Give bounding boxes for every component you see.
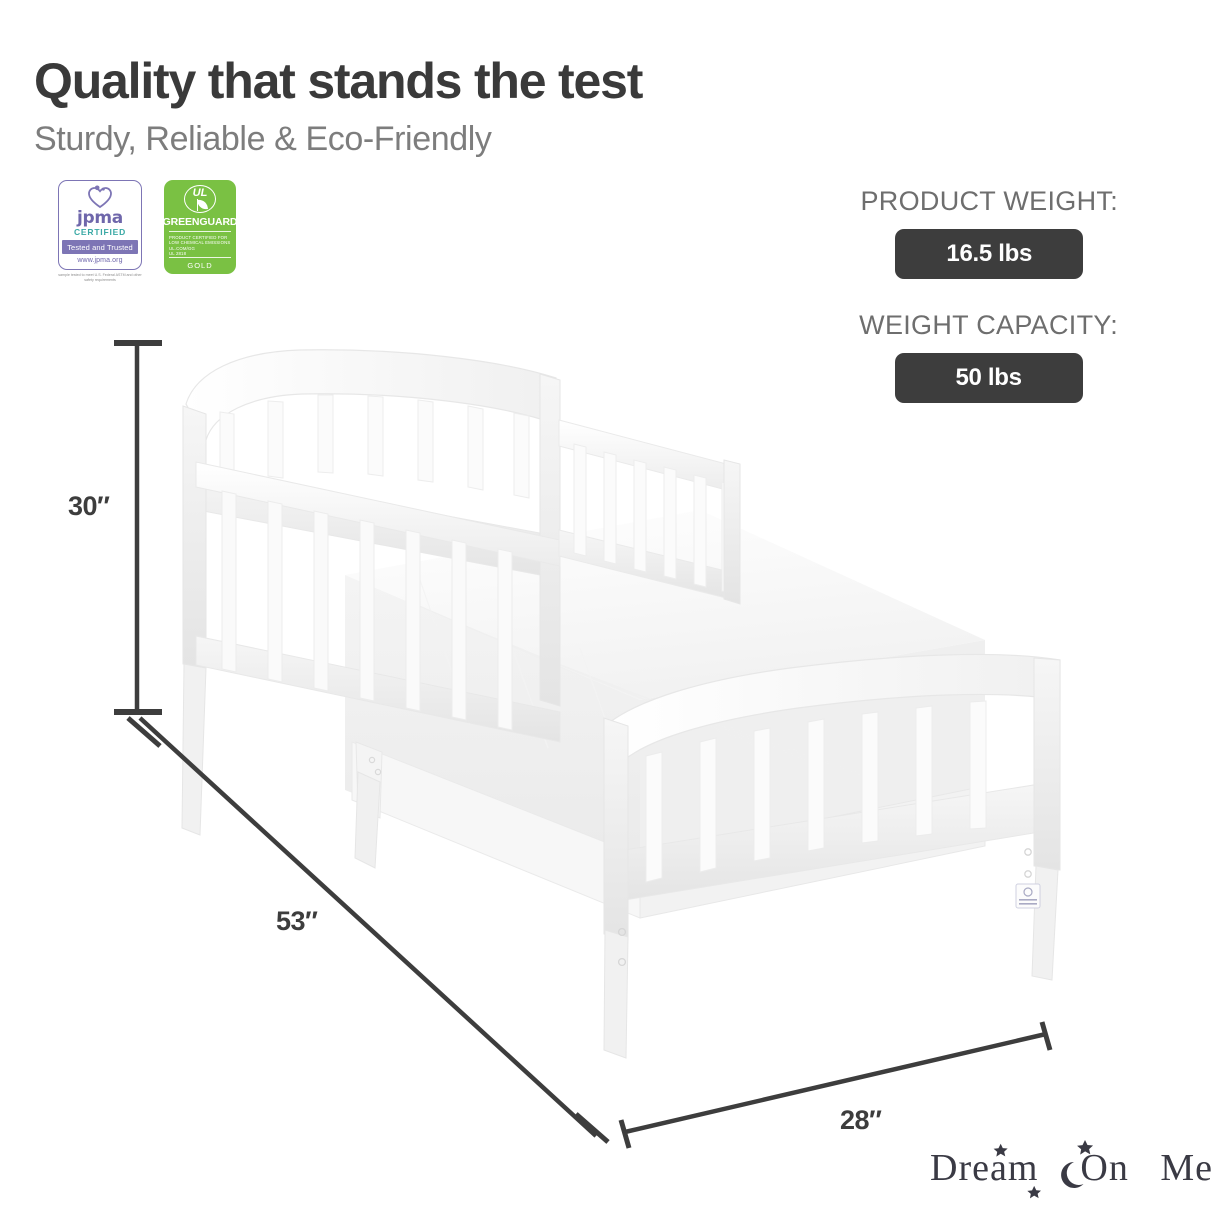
dimension-height-label: 30″ — [68, 491, 109, 522]
dimension-length-label: 53″ — [276, 906, 317, 937]
logo-wordmark: Dream On Me — [930, 1146, 1186, 1190]
logo-word-dream: Dream — [930, 1147, 1038, 1189]
logo-word-on: On — [1080, 1147, 1128, 1189]
bed-leg-middle — [355, 742, 382, 868]
logo-word-me: Me — [1160, 1147, 1213, 1189]
product-dimension-infographic: Quality that stands the test Sturdy, Rel… — [0, 0, 1214, 1214]
dimension-height-line — [114, 343, 162, 712]
toddler-bed-illustration — [0, 0, 1214, 1214]
safety-label-sticker — [1016, 884, 1040, 908]
brand-logo: Dream On Me — [930, 1140, 1186, 1202]
dimension-width-label: 28″ — [840, 1105, 881, 1136]
dimension-width-line — [621, 1022, 1050, 1148]
